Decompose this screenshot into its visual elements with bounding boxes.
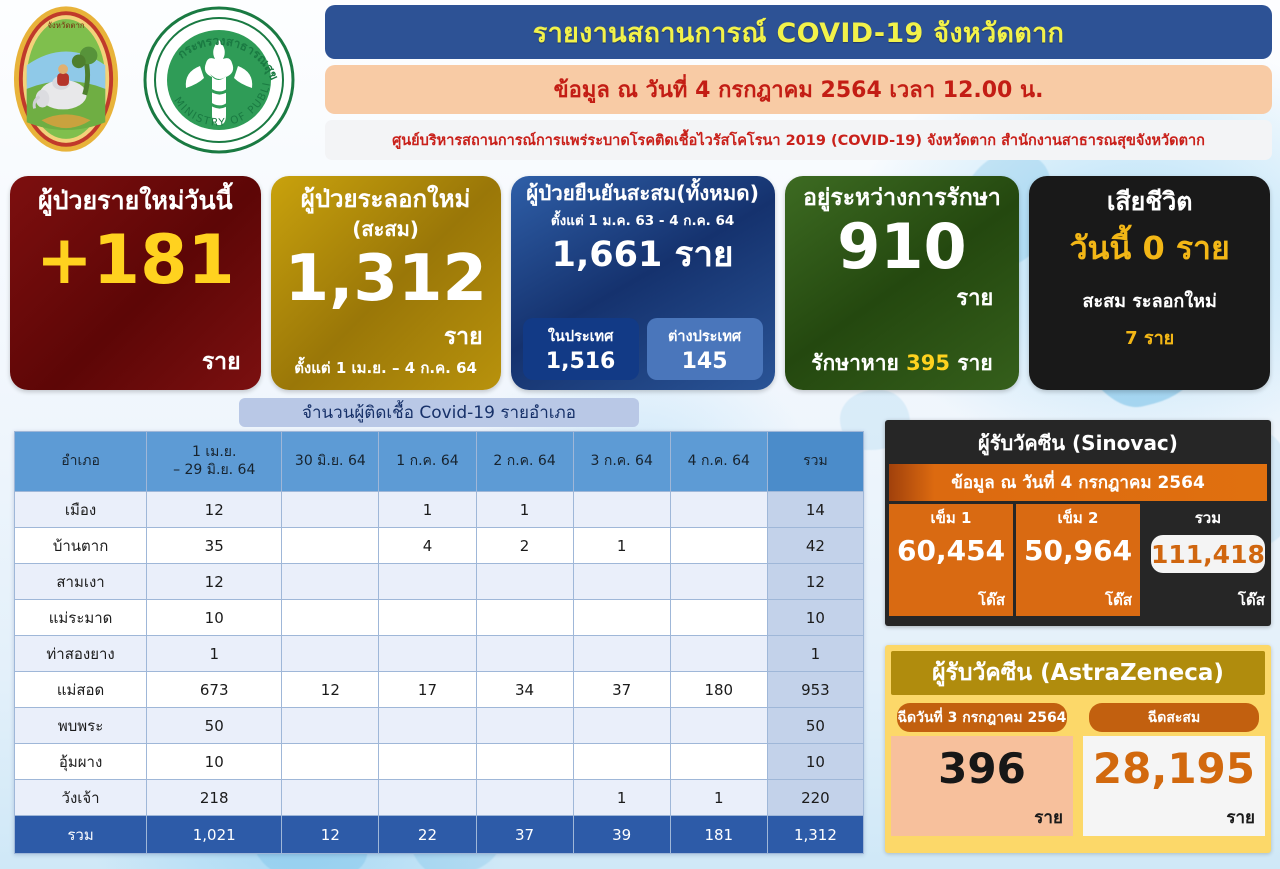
case-count-cell: 2 — [476, 528, 573, 564]
table-column-header: 1 ก.ค. 64 — [379, 432, 476, 492]
table-row: แม่สอด67312173437180953 — [15, 672, 864, 708]
table-row: ท่าสองยาง11 — [15, 636, 864, 672]
dose1-unit: โด๊ส — [897, 588, 1005, 612]
table-column-header: 2 ก.ค. 64 — [476, 432, 573, 492]
table-column-header: รวม — [767, 432, 863, 492]
table-body: เมือง121114บ้านตาก3542142สามเงา1212แม่ระ… — [15, 492, 864, 816]
total-row-label: รวม — [15, 816, 147, 854]
case-count-cell — [379, 564, 476, 600]
table-column-header: 1 เม.ย.– 29 มิ.ย. 64 — [147, 432, 282, 492]
district-case-table-section: จำนวนผู้ติดเชื้อ Covid-19 รายอำเภอ อำเภอ… — [14, 398, 864, 854]
table-head: อำเภอ1 เม.ย.– 29 มิ.ย. 6430 มิ.ย. 641 ก.… — [15, 432, 864, 492]
case-count-cell: 10 — [147, 744, 282, 780]
domestic-value: 1,516 — [546, 349, 616, 374]
case-count-cell: 37 — [573, 672, 670, 708]
sinovac-dose2-box: เข็ม 2 50,964 โด๊ส — [1016, 504, 1140, 616]
card-title: เสียชีวิต — [1043, 188, 1256, 216]
astrazeneca-cumulative-label: ฉีดสะสม — [1089, 703, 1259, 732]
case-count-cell — [379, 780, 476, 816]
cumulative-breakdown: ในประเทศ 1,516 ต่างประเทศ 145 — [523, 318, 763, 380]
table-column-header: 4 ก.ค. 64 — [670, 432, 767, 492]
table-total-row: รวม1,021122237391811,312 — [15, 816, 864, 854]
district-total-cell: 50 — [767, 708, 863, 744]
case-count-cell: 4 — [379, 528, 476, 564]
card-title: ผู้ป่วยระลอกใหม่ — [285, 186, 487, 213]
imported-cases-box: ต่างประเทศ 145 — [647, 318, 763, 380]
column-total-cell: 12 — [282, 816, 379, 854]
district-total-cell: 220 — [767, 780, 863, 816]
case-count-cell — [573, 744, 670, 780]
astrazeneca-today-unit: ราย — [901, 804, 1063, 831]
case-count-cell: 50 — [147, 708, 282, 744]
case-count-cell — [670, 600, 767, 636]
summary-stat-cards: ผู้ป่วยรายใหม่วันนี้ +181 ราย ผู้ป่วยระล… — [0, 176, 1280, 390]
dose1-label: เข็ม 1 — [897, 506, 1005, 530]
stat-card-deaths: เสียชีวิต วันนี้ 0 ราย สะสม ระลอกใหม่ 7 … — [1029, 176, 1270, 390]
case-count-cell: 1 — [573, 780, 670, 816]
case-count-cell — [282, 708, 379, 744]
case-count-cell — [573, 636, 670, 672]
card-title: ผู้ป่วยยืนยันสะสม(ทั้งหมด) — [523, 182, 763, 205]
table-column-header: 30 มิ.ย. 64 — [282, 432, 379, 492]
deaths-cumulative-label: สะสม ระลอกใหม่ — [1043, 286, 1256, 315]
case-count-cell — [670, 744, 767, 780]
district-name-cell: บ้านตาก — [15, 528, 147, 564]
sinovac-total-value: 111,418 — [1151, 535, 1265, 573]
astrazeneca-cumulative-column: ฉีดสะสม 28,195 ราย — [1083, 703, 1265, 836]
imported-value: 145 — [682, 349, 728, 374]
case-count-cell: 1 — [476, 492, 573, 528]
recovered-line: รักษาหาย 395 ราย — [799, 347, 1006, 380]
case-count-cell — [573, 564, 670, 600]
stat-card-under-treatment: อยู่ระหว่างการรักษา 910 ราย รักษาหาย 395… — [785, 176, 1020, 390]
logo-group: จังหวัดตาก ก — [0, 0, 325, 166]
case-count-cell — [282, 600, 379, 636]
recovered-unit: ราย — [957, 351, 992, 375]
table-row: วังเจ้า21811220 — [15, 780, 864, 816]
organization-line: ศูนย์บริหารสถานการณ์การแพร่ระบาดโรคติดเช… — [325, 120, 1272, 160]
district-total-cell: 10 — [767, 600, 863, 636]
stat-card-cumulative-confirmed: ผู้ป่วยยืนยันสะสม(ทั้งหมด) ตั้งแต่ 1 ม.ค… — [511, 176, 775, 390]
table-row: บ้านตาก3542142 — [15, 528, 864, 564]
card-subtitle: (สะสม) — [285, 213, 487, 245]
case-count-cell — [476, 708, 573, 744]
page-title: รายงานสถานการณ์ COVID-19 จังหวัดตาก — [325, 5, 1272, 59]
district-name-cell: แม่ระมาด — [15, 600, 147, 636]
case-count-cell — [573, 492, 670, 528]
case-count-cell — [670, 708, 767, 744]
vaccine-panel-sinovac: ผู้รับวัคซีน (Sinovac) ข้อมูล ณ วันที่ 4… — [885, 420, 1271, 626]
district-name-cell: อุ้มผาง — [15, 744, 147, 780]
table-header-row: อำเภอ1 เม.ย.– 29 มิ.ย. 6430 มิ.ย. 641 ก.… — [15, 432, 864, 492]
dose2-value: 50,964 — [1024, 534, 1132, 567]
dose2-label: เข็ม 2 — [1024, 506, 1132, 530]
case-count-cell — [670, 636, 767, 672]
case-count-cell: 17 — [379, 672, 476, 708]
case-count-cell — [476, 600, 573, 636]
recovered-label: รักษาหาย — [811, 351, 899, 375]
district-total-cell: 953 — [767, 672, 863, 708]
case-count-cell — [379, 744, 476, 780]
case-count-cell — [379, 708, 476, 744]
column-total-cell: 181 — [670, 816, 767, 854]
new-wave-cumulative-value: 1,312 — [285, 247, 487, 311]
cumulative-confirmed-value: 1,661 ราย — [523, 238, 763, 273]
table-row: สามเงา1212 — [15, 564, 864, 600]
domestic-cases-box: ในประเทศ 1,516 — [523, 318, 639, 380]
case-count-cell — [379, 636, 476, 672]
case-count-cell — [379, 600, 476, 636]
case-count-cell — [282, 492, 379, 528]
data-as-of-date: ข้อมูล ณ วันที่ 4 กรกฎาคม 2564 เวลา 12.0… — [325, 65, 1272, 114]
astrazeneca-today-panel: 396 ราย — [891, 736, 1073, 836]
case-count-cell: 1 — [147, 636, 282, 672]
svg-text:จังหวัดตาก: จังหวัดตาก — [47, 21, 85, 30]
sinovac-total-unit: โด๊ส — [1151, 588, 1265, 612]
new-cases-today-value: +181 — [24, 227, 247, 295]
case-count-cell — [282, 564, 379, 600]
case-count-cell — [282, 528, 379, 564]
astrazeneca-body: ฉีดวันที่ 3 กรกฎาคม 2564 396 ราย ฉีดสะสม… — [891, 703, 1265, 836]
case-count-cell — [476, 636, 573, 672]
table-row: เมือง121114 — [15, 492, 864, 528]
case-count-cell: 34 — [476, 672, 573, 708]
astrazeneca-title: ผู้รับวัคซีน (AstraZeneca) — [891, 651, 1265, 695]
district-case-table: อำเภอ1 เม.ย.– 29 มิ.ย. 6430 มิ.ย. 641 ก.… — [14, 431, 864, 854]
case-count-cell: 673 — [147, 672, 282, 708]
sinovac-total-label: รวม — [1151, 506, 1265, 530]
card-unit: ราย — [285, 319, 487, 355]
card-date-range: ตั้งแต่ 1 เม.ย. – 4 ก.ค. 64 — [285, 356, 487, 380]
district-total-cell: 1 — [767, 636, 863, 672]
stat-card-new-wave-cumulative: ผู้ป่วยระลอกใหม่ (สะสม) 1,312 ราย ตั้งแต… — [271, 176, 501, 390]
sinovac-total-box: รวม 111,418 โด๊ส — [1143, 504, 1273, 616]
sinovac-dose1-box: เข็ม 1 60,454 โด๊ส — [889, 504, 1013, 616]
case-count-cell — [476, 564, 573, 600]
astrazeneca-today-column: ฉีดวันที่ 3 กรกฎาคม 2564 396 ราย — [891, 703, 1073, 836]
card-title: อยู่ระหว่างการรักษา — [799, 186, 1006, 212]
grand-total-cell: 1,312 — [767, 816, 863, 854]
district-name-cell: ท่าสองยาง — [15, 636, 147, 672]
astrazeneca-today-value: 396 — [901, 748, 1063, 790]
case-count-cell — [670, 564, 767, 600]
case-count-cell — [476, 780, 573, 816]
card-unit: ราย — [24, 344, 247, 380]
sinovac-as-of-date: ข้อมูล ณ วันที่ 4 กรกฎาคม 2564 — [889, 464, 1267, 501]
dashboard-header: จังหวัดตาก ก — [0, 0, 1280, 166]
card-date-range: ตั้งแต่ 1 ม.ค. 63 - 4 ก.ค. 64 — [523, 209, 763, 231]
case-count-cell: 218 — [147, 780, 282, 816]
under-treatment-value: 910 — [799, 216, 1006, 278]
case-count-cell: 12 — [147, 564, 282, 600]
astrazeneca-today-label: ฉีดวันที่ 3 กรกฎาคม 2564 — [897, 703, 1067, 732]
dose2-unit: โด๊ส — [1024, 588, 1132, 612]
astrazeneca-cumulative-value: 28,195 — [1093, 748, 1255, 790]
vaccine-panel-astrazeneca: ผู้รับวัคซีน (AstraZeneca) ฉีดวันที่ 3 ก… — [885, 645, 1271, 853]
district-total-cell: 14 — [767, 492, 863, 528]
case-count-cell — [573, 708, 670, 744]
table-column-header: 3 ก.ค. 64 — [573, 432, 670, 492]
district-total-cell: 10 — [767, 744, 863, 780]
deaths-cumulative-value: 7 ราย — [1043, 323, 1256, 352]
case-count-cell: 10 — [147, 600, 282, 636]
case-count-cell — [573, 600, 670, 636]
district-name-cell: เมือง — [15, 492, 147, 528]
district-name-cell: แม่สอด — [15, 672, 147, 708]
domestic-label: ในประเทศ — [548, 325, 614, 348]
dose1-value: 60,454 — [897, 534, 1005, 567]
case-count-cell: 1 — [379, 492, 476, 528]
table-foot: รวม1,021122237391811,312 — [15, 816, 864, 854]
case-count-cell — [670, 492, 767, 528]
case-count-cell: 12 — [147, 492, 282, 528]
tak-province-seal-icon: จังหวัดตาก — [12, 4, 120, 154]
case-count-cell: 1 — [573, 528, 670, 564]
case-count-cell: 180 — [670, 672, 767, 708]
column-total-cell: 22 — [379, 816, 476, 854]
imported-label: ต่างประเทศ — [668, 325, 741, 348]
column-total-cell: 39 — [573, 816, 670, 854]
table-row: พบพระ5050 — [15, 708, 864, 744]
column-total-cell: 1,021 — [147, 816, 282, 854]
district-total-cell: 42 — [767, 528, 863, 564]
deaths-today-value: วันนี้ 0 ราย — [1043, 232, 1256, 264]
district-name-cell: วังเจ้า — [15, 780, 147, 816]
table-row: แม่ระมาด1010 — [15, 600, 864, 636]
case-count-cell — [670, 528, 767, 564]
stat-card-new-cases-today: ผู้ป่วยรายใหม่วันนี้ +181 ราย — [10, 176, 261, 390]
recovered-value: 395 — [906, 351, 950, 375]
case-count-cell: 12 — [282, 672, 379, 708]
district-name-cell: สามเงา — [15, 564, 147, 600]
case-count-cell — [476, 744, 573, 780]
case-count-cell — [282, 744, 379, 780]
astrazeneca-cumulative-panel: 28,195 ราย — [1083, 736, 1265, 836]
card-unit: ราย — [799, 280, 1006, 315]
astrazeneca-cumulative-unit: ราย — [1093, 804, 1255, 831]
table-title: จำนวนผู้ติดเชื้อ Covid-19 รายอำเภอ — [239, 398, 639, 427]
card-title: ผู้ป่วยรายใหม่วันนี้ — [24, 187, 247, 215]
case-count-cell: 1 — [670, 780, 767, 816]
sinovac-title: ผู้รับวัคซีน (Sinovac) — [889, 424, 1267, 464]
case-count-cell — [282, 780, 379, 816]
header-text-block: รายงานสถานการณ์ COVID-19 จังหวัดตาก ข้อม… — [325, 0, 1280, 160]
sinovac-dose-boxes: เข็ม 1 60,454 โด๊ส เข็ม 2 50,964 โด๊ส รว… — [889, 504, 1267, 616]
district-total-cell: 12 — [767, 564, 863, 600]
case-count-cell — [282, 636, 379, 672]
table-column-header: อำเภอ — [15, 432, 147, 492]
table-row: อุ้มผาง1010 — [15, 744, 864, 780]
district-name-cell: พบพระ — [15, 708, 147, 744]
covid-dashboard: จังหวัดตาก ก — [0, 0, 1280, 869]
ministry-of-public-health-logo-icon: กระทรวงสาธารณสุข MINISTRY OF PUBLIC HEAL… — [140, 4, 298, 156]
case-count-cell: 35 — [147, 528, 282, 564]
column-total-cell: 37 — [476, 816, 573, 854]
